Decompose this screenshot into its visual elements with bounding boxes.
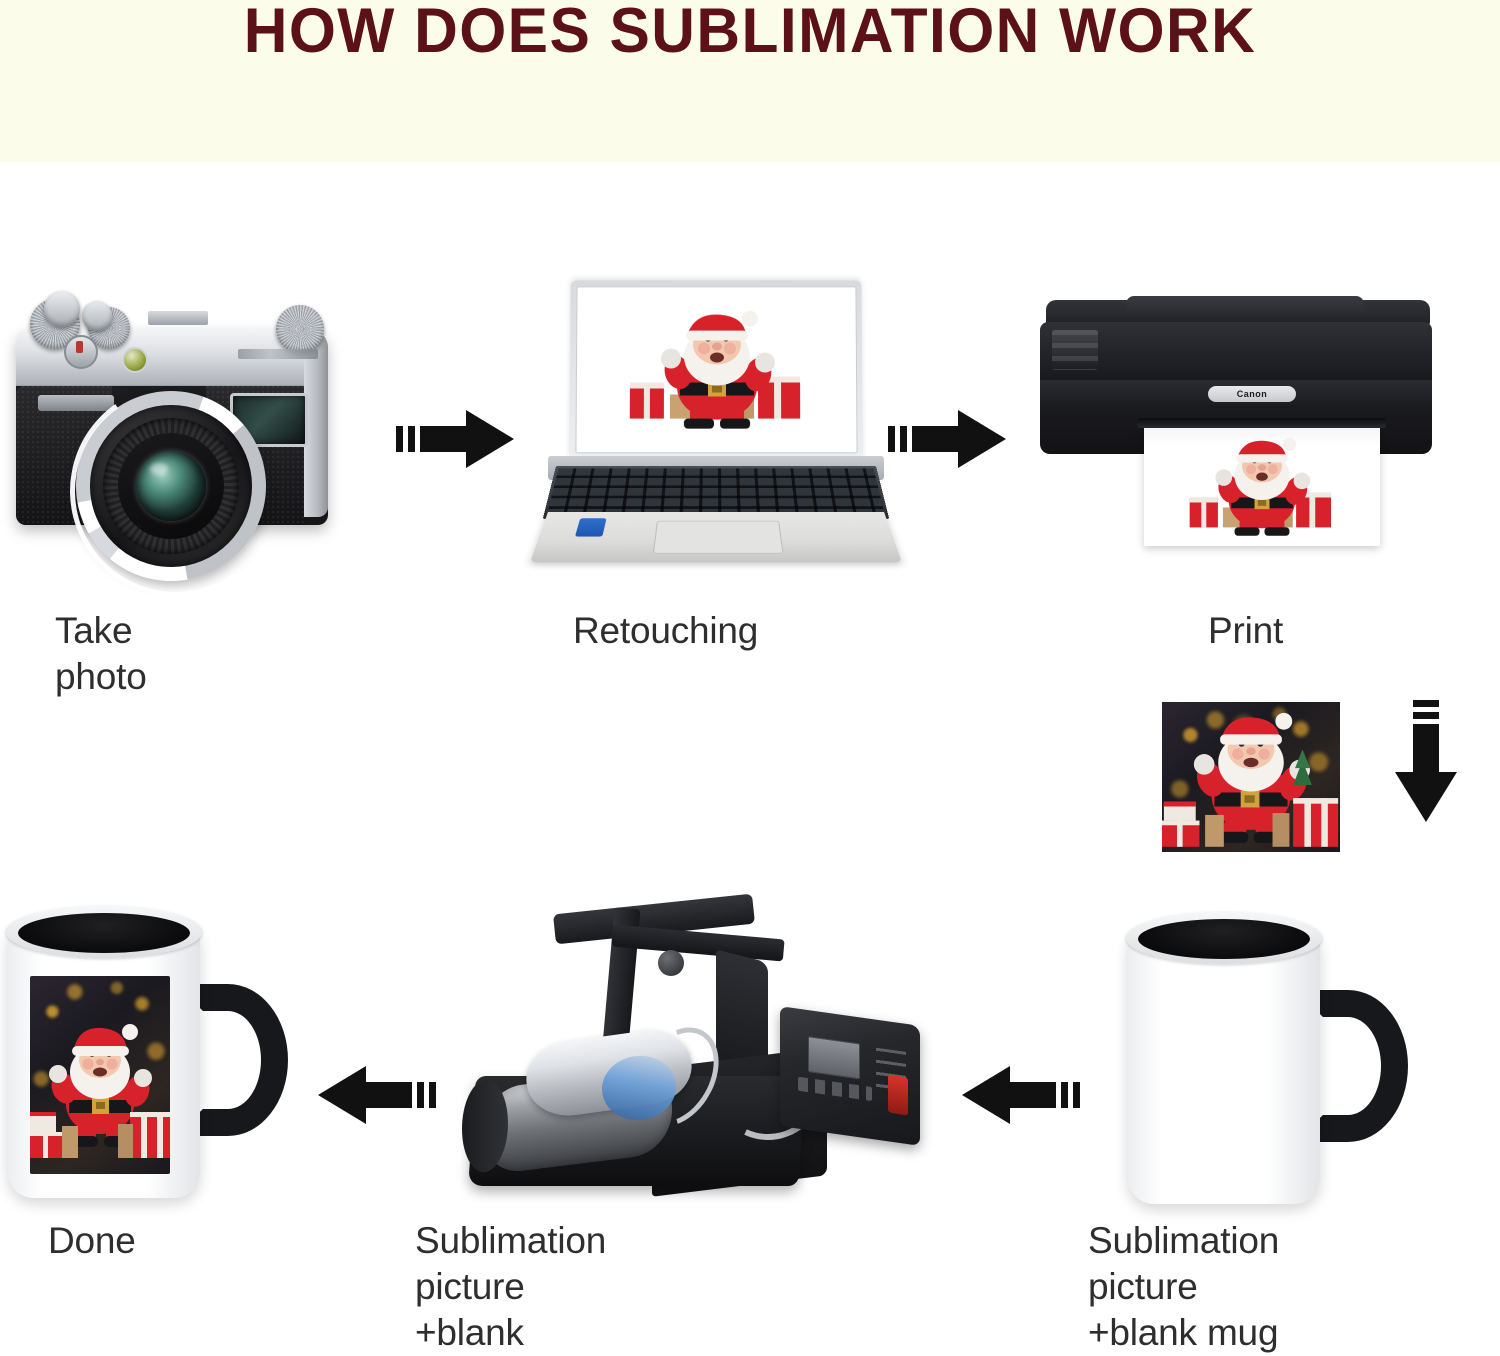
laptop-icon bbox=[532, 280, 892, 590]
caption-done: Done bbox=[48, 1218, 136, 1264]
heat-press-buttons[interactable] bbox=[798, 1077, 872, 1101]
arrow-left-icon bbox=[316, 1062, 436, 1128]
heat-press-display bbox=[808, 1036, 860, 1079]
arrow-right-icon bbox=[396, 406, 516, 472]
caption-take-photo: Take photo bbox=[55, 608, 147, 700]
caption-sublimation-picture-blank-mug: Sublimation picture +blank mug bbox=[1088, 1218, 1279, 1356]
camera-icon bbox=[8, 283, 338, 565]
arrow-down-icon bbox=[1393, 700, 1459, 824]
header-band: HOW DOES SUBLIMATION WORK bbox=[0, 0, 1500, 162]
caption-sublimation-picture-blank: Sublimation picture +blank bbox=[415, 1218, 606, 1356]
santa-artwork-on-paper bbox=[1183, 437, 1341, 542]
santa-artwork-transfer bbox=[1162, 702, 1340, 852]
laptop-trackpad bbox=[653, 521, 784, 554]
heat-press-icon bbox=[462, 898, 940, 1204]
page-title: HOW DOES SUBLIMATION WORK bbox=[30, 0, 1470, 66]
printer-icon: Canon bbox=[1038, 296, 1438, 566]
caption-retouching: Retouching bbox=[573, 608, 758, 654]
intel-badge-icon bbox=[575, 518, 607, 536]
printer-brand-logo: Canon bbox=[1208, 386, 1296, 402]
blank-mug-icon bbox=[1128, 912, 1428, 1212]
santa-artwork-on-mug bbox=[30, 976, 170, 1174]
printed-mug-icon bbox=[8, 906, 308, 1206]
printed-paper bbox=[1144, 424, 1380, 546]
laptop-screen bbox=[575, 286, 857, 453]
arrow-right-icon bbox=[888, 406, 1008, 472]
transfer-sheet bbox=[1152, 698, 1366, 888]
heat-press-power-switch[interactable] bbox=[888, 1074, 908, 1116]
caption-print: Print bbox=[1208, 608, 1283, 654]
arrow-left-icon bbox=[960, 1062, 1080, 1128]
santa-artwork-on-screen bbox=[621, 311, 812, 436]
